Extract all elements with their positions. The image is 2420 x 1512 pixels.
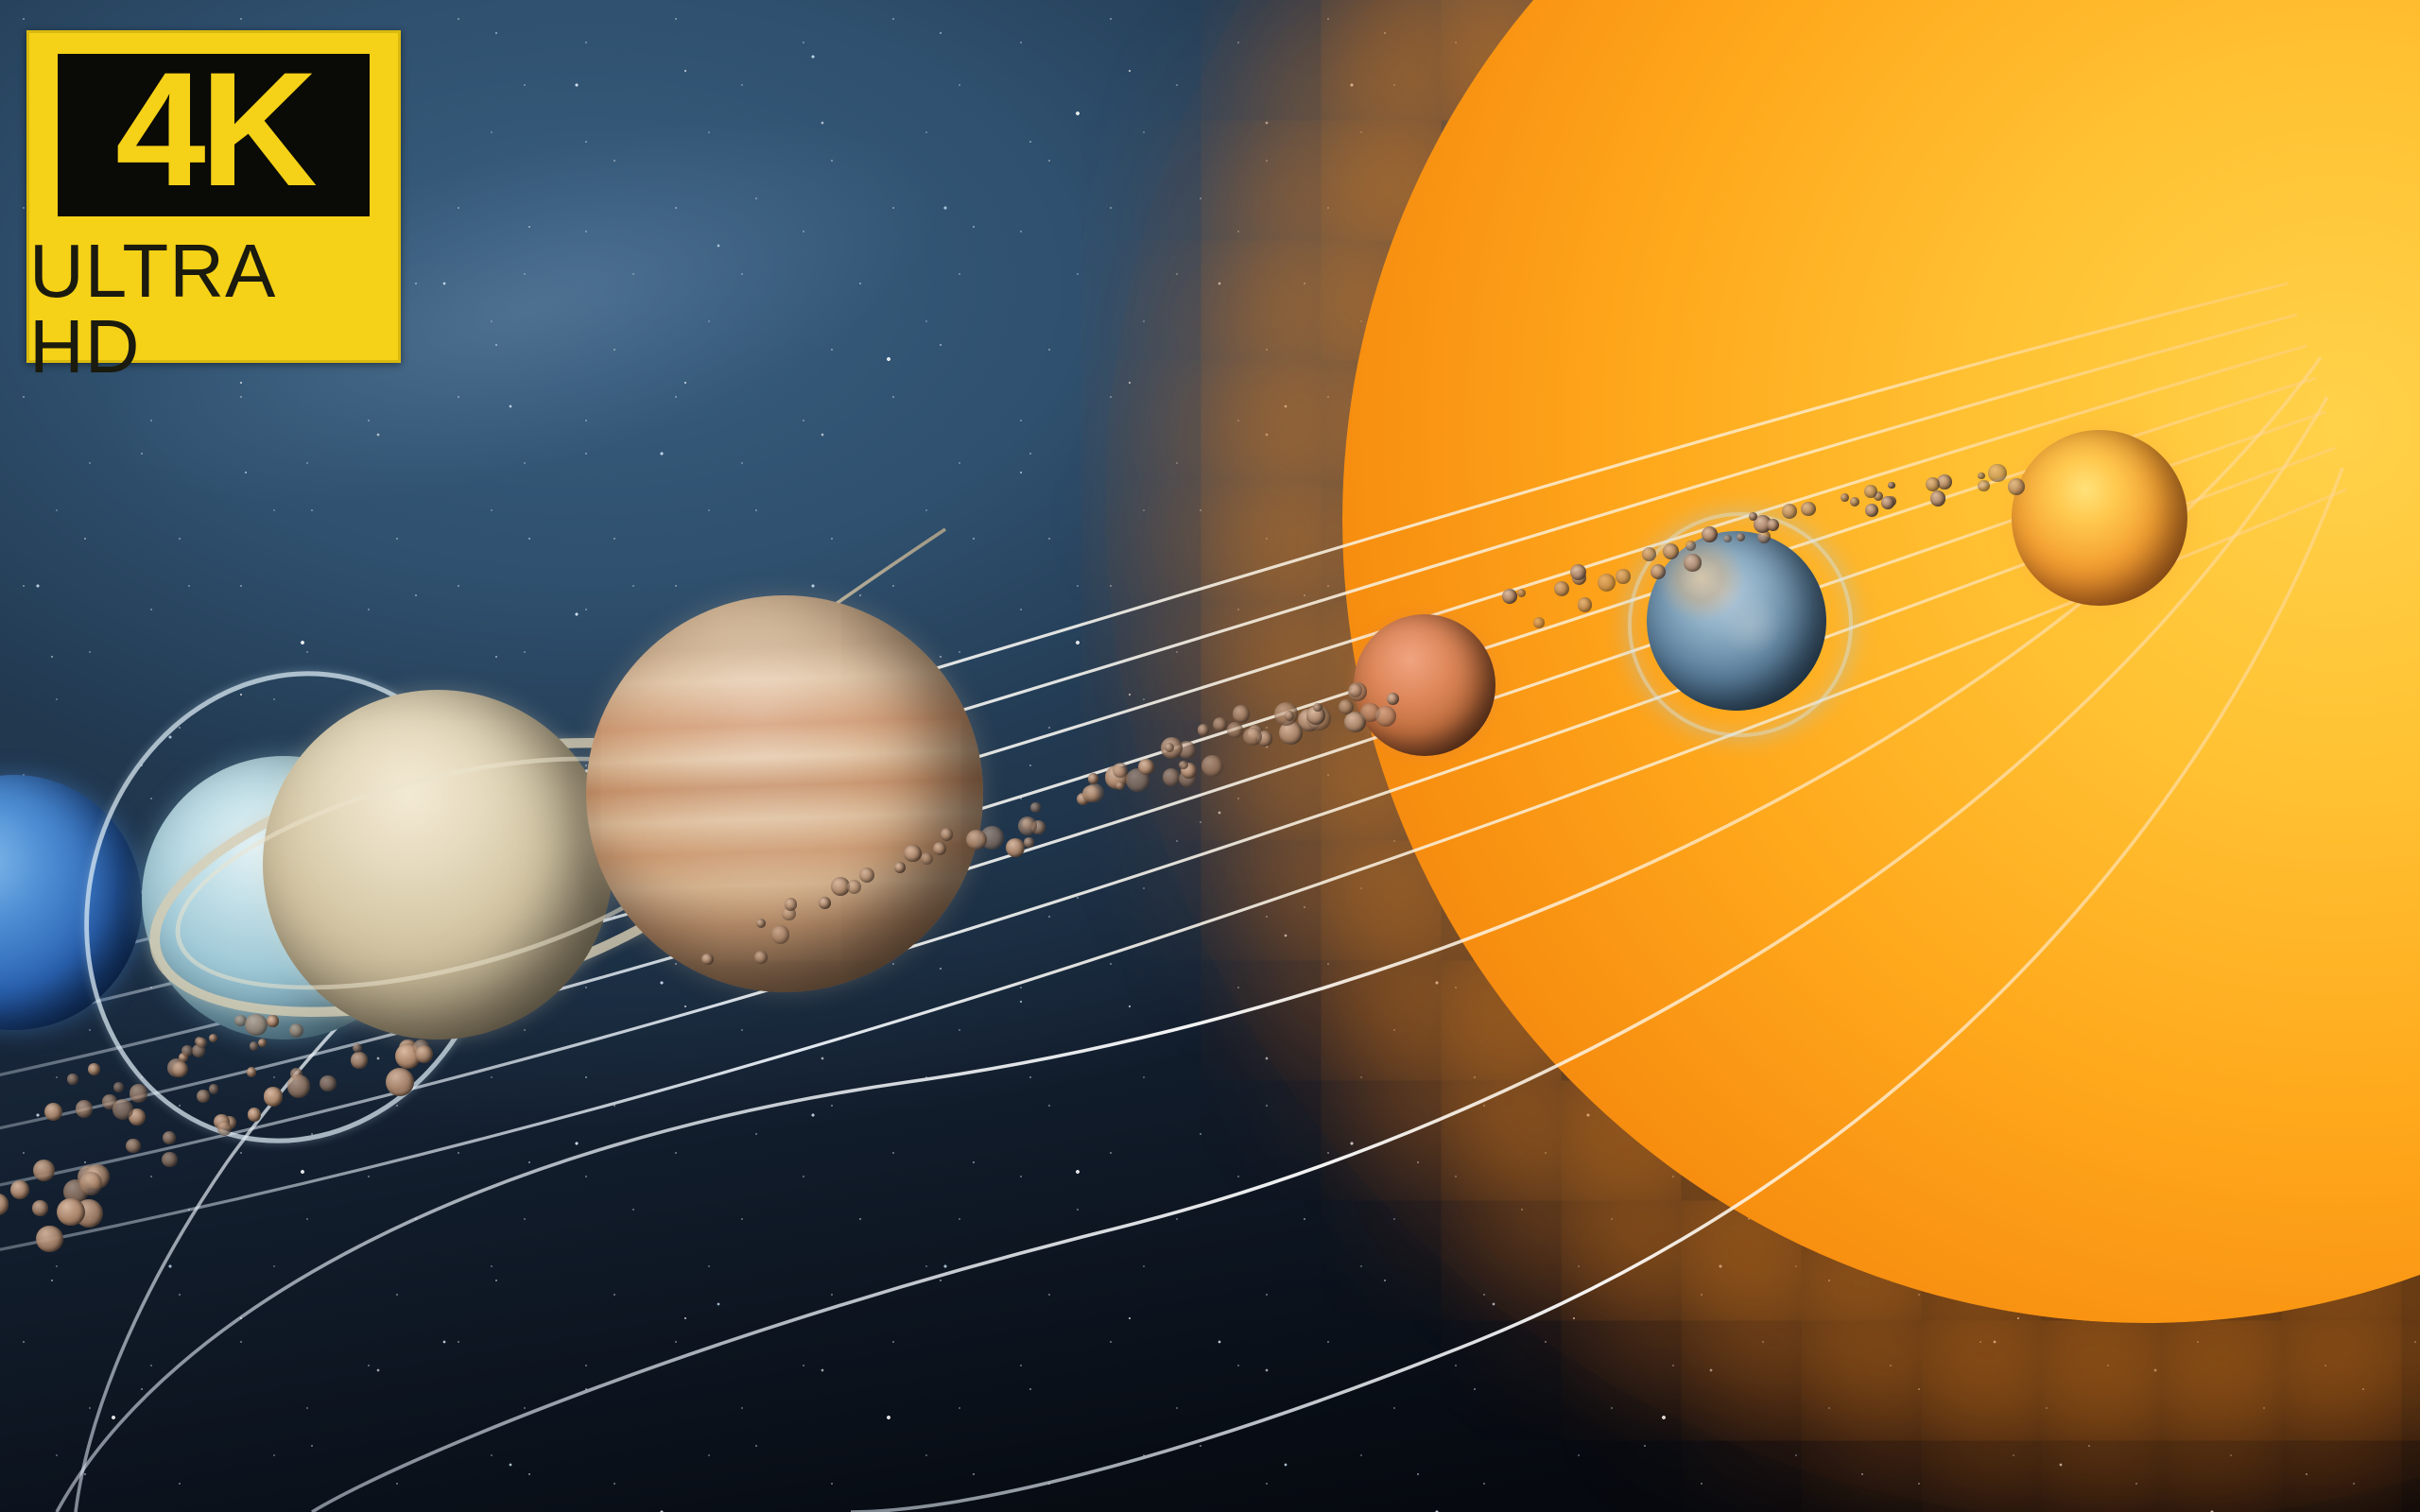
asteroid (1782, 504, 1797, 519)
quality-badge-panel: 4K (58, 54, 370, 216)
asteroid (1864, 485, 1877, 498)
asteroid (10, 1180, 29, 1199)
asteroid (1663, 543, 1679, 559)
asteroid (250, 1041, 259, 1051)
quality-badge: 4K ULTRA HD (26, 30, 401, 363)
asteroid (1978, 472, 1984, 479)
asteroid (57, 1198, 85, 1227)
asteroid (209, 1034, 217, 1042)
asteroid (267, 1015, 278, 1026)
asteroid (1642, 547, 1656, 561)
asteroid (415, 1045, 433, 1063)
asteroid (1349, 683, 1363, 697)
asteroid (287, 1074, 310, 1097)
asteroid (1702, 526, 1718, 542)
asteroid (2008, 478, 2025, 495)
asteroid (32, 1200, 47, 1215)
asteroid (88, 1063, 100, 1075)
asteroid (1598, 574, 1616, 592)
asteroid (921, 852, 933, 865)
planet-venus (2012, 430, 2187, 606)
asteroid (1578, 597, 1592, 611)
asteroid (1006, 838, 1025, 857)
asteroid (785, 898, 797, 910)
asteroid (44, 1103, 62, 1121)
asteroid (197, 1090, 210, 1103)
asteroid (245, 1014, 267, 1036)
asteroid (1684, 554, 1701, 571)
asteroid (209, 1084, 219, 1094)
asteroid (1138, 759, 1154, 775)
asteroid (1517, 589, 1526, 597)
asteroid (1749, 512, 1757, 521)
sun (1342, 0, 2420, 1323)
planet-mars (1354, 614, 1495, 756)
asteroid (1213, 717, 1227, 731)
asteroid (1801, 502, 1815, 516)
asteroid (941, 828, 954, 841)
asteroid (67, 1074, 78, 1084)
asteroid (1243, 728, 1262, 747)
asteroid (933, 842, 946, 855)
asteroid (1179, 761, 1187, 769)
thumbnail-canvas: 4K ULTRA HD 太阳系之旅（一） trip to the solar s… (0, 0, 2420, 1512)
asteroid (76, 1100, 94, 1118)
quality-badge-subtitle: ULTRA HD (29, 233, 398, 385)
asteroid (1554, 581, 1569, 596)
asteroid (1865, 504, 1878, 517)
asteroid (771, 925, 790, 944)
asteroid (859, 868, 874, 883)
asteroid (33, 1160, 55, 1181)
asteroid (1201, 755, 1223, 777)
asteroid (1085, 783, 1105, 803)
asteroid (264, 1087, 283, 1106)
asteroid (1198, 724, 1209, 735)
asteroid (1533, 617, 1545, 628)
asteroid (1881, 496, 1894, 509)
asteroid (819, 897, 831, 909)
asteroid (1850, 497, 1859, 507)
asteroid (258, 1039, 267, 1047)
asteroid (1233, 705, 1251, 723)
asteroid (386, 1068, 414, 1096)
asteroid (36, 1226, 62, 1252)
asteroid (113, 1082, 124, 1092)
asteroid (754, 951, 768, 964)
asteroid (1651, 564, 1666, 579)
asteroid (217, 1121, 233, 1136)
asteroid (126, 1139, 140, 1153)
asteroid (1570, 564, 1586, 580)
asteroid (353, 1043, 362, 1053)
asteroid (1227, 722, 1243, 738)
asteroid (130, 1084, 147, 1102)
asteroid (1888, 482, 1895, 490)
asteroid (248, 1108, 262, 1122)
asteroid (1841, 493, 1849, 502)
asteroid (1616, 569, 1631, 584)
asteroid (1930, 490, 1945, 506)
asteroid (1115, 782, 1125, 791)
asteroid (1088, 773, 1099, 784)
asteroid (1024, 837, 1033, 847)
asteroid (1978, 480, 1990, 492)
asteroid (701, 954, 713, 965)
asteroid (1285, 711, 1294, 720)
asteroid (163, 1131, 176, 1144)
asteroid (351, 1052, 367, 1068)
quality-badge-resolution: 4K (115, 48, 312, 211)
asteroid (904, 845, 922, 863)
asteroid (1737, 533, 1745, 541)
asteroid (162, 1152, 178, 1168)
asteroid (1030, 802, 1041, 813)
asteroid (112, 1099, 133, 1120)
asteroid (0, 1194, 9, 1214)
asteroid (966, 830, 986, 850)
asteroid (79, 1172, 103, 1195)
asteroid (756, 919, 766, 928)
asteroid (289, 1023, 303, 1038)
asteroid (1163, 768, 1180, 785)
